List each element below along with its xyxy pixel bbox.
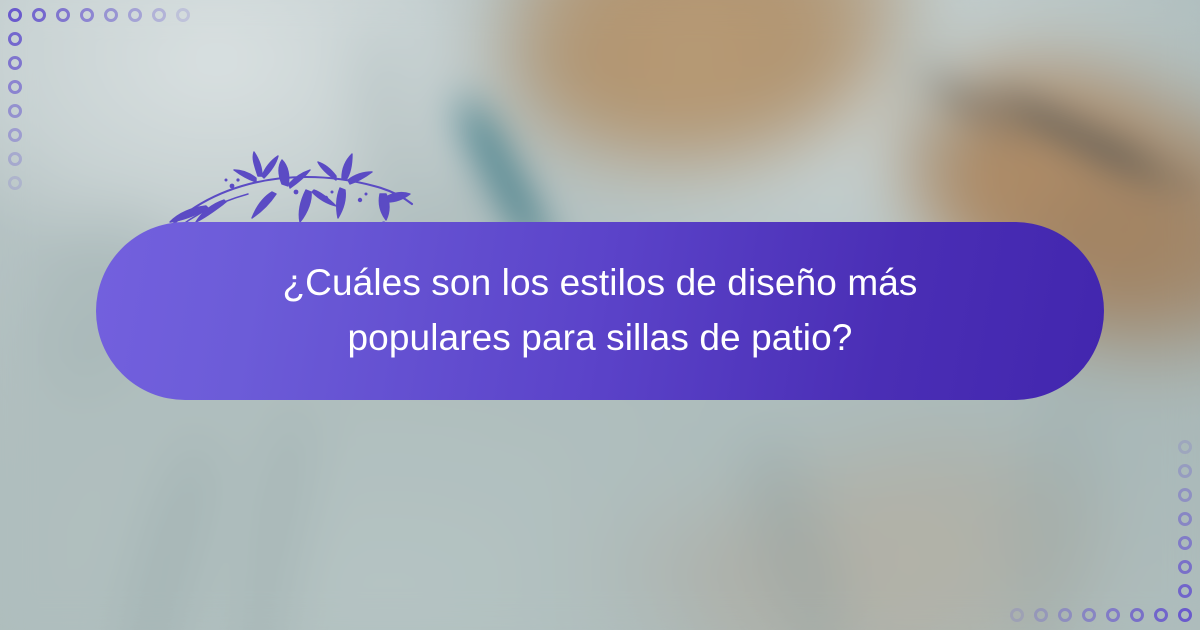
decorative-dot (8, 176, 22, 190)
decorative-dot (8, 128, 22, 142)
question-text: ¿Cuáles son los estilos de diseño más po… (210, 256, 990, 366)
decorative-dots-top-left (8, 8, 200, 200)
decorative-dots-bottom-right (1000, 430, 1192, 622)
decorative-dot (1178, 584, 1192, 598)
decorative-dot (1178, 560, 1192, 574)
decorative-dot (8, 80, 22, 94)
decorative-dot (1058, 608, 1072, 622)
decorative-dot (8, 32, 22, 46)
decorative-dot (104, 8, 118, 22)
question-banner: ¿Cuáles son los estilos de diseño más po… (96, 222, 1104, 400)
decorative-dot (1178, 512, 1192, 526)
decorative-dot (1130, 608, 1144, 622)
decorative-dot (8, 56, 22, 70)
decorative-dot (1178, 488, 1192, 502)
decorative-dot (1154, 608, 1168, 622)
decorative-dot (1178, 464, 1192, 478)
decorative-dot (8, 152, 22, 166)
decorative-dot (176, 8, 190, 22)
share-card: ¿Cuáles son los estilos de diseño más po… (0, 0, 1200, 630)
decorative-dot (1034, 608, 1048, 622)
decorative-dot (1178, 536, 1192, 550)
decorative-dot (32, 8, 46, 22)
decorative-dot (128, 8, 142, 22)
decorative-dot (1106, 608, 1120, 622)
decorative-dot (80, 8, 94, 22)
decorative-dot (1082, 608, 1096, 622)
decorative-dot (8, 104, 22, 118)
decorative-dot (1010, 608, 1024, 622)
decorative-dot (152, 8, 166, 22)
decorative-dot (1178, 608, 1192, 622)
decorative-dot (8, 8, 22, 22)
decorative-dot (56, 8, 70, 22)
decorative-dot (1178, 440, 1192, 454)
